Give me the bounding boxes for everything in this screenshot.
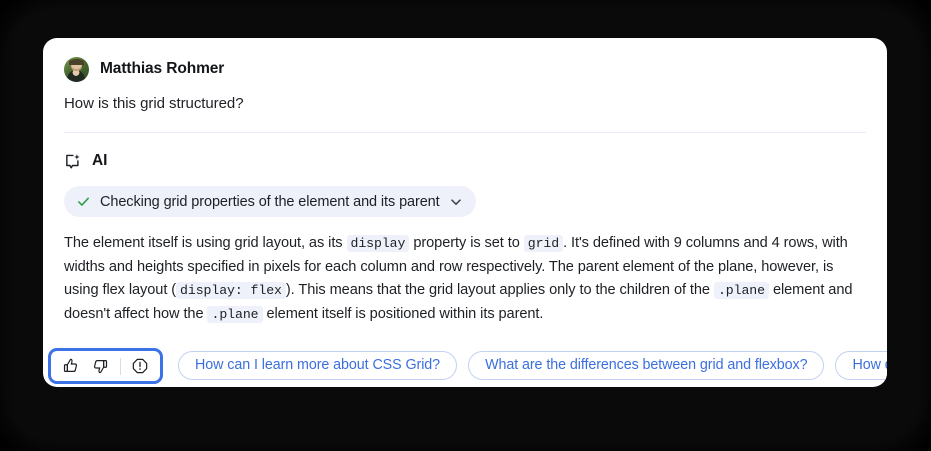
inline-code-plane-2: .plane — [207, 306, 262, 323]
inline-code-display-flex: display: flex — [176, 282, 286, 299]
report-issue-icon[interactable] — [129, 355, 151, 377]
suggestion-chip[interactable]: How can I learn more about CSS Grid? — [178, 351, 457, 380]
status-pill-label: Checking grid properties of the element … — [100, 194, 440, 210]
suggestion-chip[interactable]: How do I — [835, 351, 887, 380]
answer-part-1: The element itself is using grid layout,… — [64, 235, 347, 251]
chevron-down-icon[interactable] — [449, 195, 463, 209]
inline-code-plane-1: .plane — [714, 282, 769, 299]
thumbs-down-icon[interactable] — [89, 355, 111, 377]
inline-code-grid: grid — [524, 235, 563, 252]
feedback-button-group[interactable] — [48, 348, 163, 384]
answer-part-2: property is set to — [409, 235, 523, 251]
answer-part-6: element itself is positioned within its … — [263, 306, 544, 322]
user-message-text: How is this grid structured? — [64, 95, 865, 112]
ai-label: AI — [92, 152, 107, 170]
chat-card: Matthias Rohmer How is this grid structu… — [43, 38, 887, 387]
suggestion-chip[interactable]: What are the differences between grid an… — [468, 351, 824, 380]
ai-sparkle-bubble-icon — [64, 152, 83, 171]
suggestion-chips: How can I learn more about CSS Grid? Wha… — [178, 343, 887, 387]
answer-part-4: ). This means that the grid layout appli… — [286, 282, 714, 298]
user-message-block: Matthias Rohmer How is this grid structu… — [43, 38, 887, 112]
user-name: Matthias Rohmer — [100, 60, 224, 78]
user-header: Matthias Rohmer — [64, 56, 865, 82]
ai-answer-text: The element itself is using grid layout,… — [64, 232, 864, 326]
feedback-separator — [120, 358, 121, 375]
ai-header: AI — [64, 150, 865, 172]
ai-response-block: AI Checking grid properties of the eleme… — [43, 133, 887, 326]
avatar — [64, 57, 89, 82]
action-bar: How can I learn more about CSS Grid? Wha… — [43, 343, 887, 387]
status-pill[interactable]: Checking grid properties of the element … — [64, 186, 476, 217]
check-icon — [76, 194, 91, 209]
inline-code-display: display — [347, 235, 410, 252]
thumbs-up-icon[interactable] — [60, 355, 82, 377]
